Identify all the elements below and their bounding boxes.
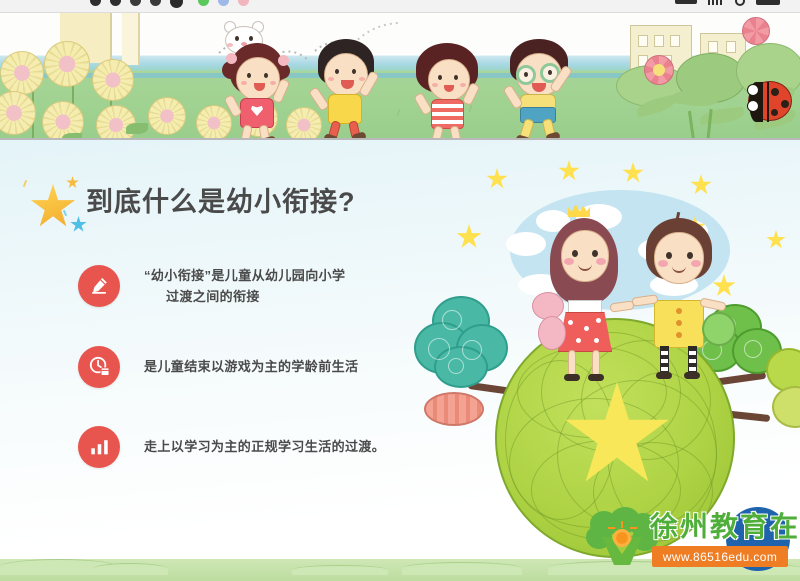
signal-icon [708, 0, 724, 5]
sky-star-icon [486, 168, 508, 190]
slide-content: 到底什么是幼小衔接? “幼小衔接”是儿童从幼儿园向小学 过渡之间的衔接 [0, 140, 800, 581]
pen-icon [78, 265, 120, 307]
kindergarten-banner [0, 13, 800, 140]
bar-chart-icon [78, 426, 120, 468]
banner-child-3 [408, 43, 494, 140]
banner-child-1 [218, 41, 304, 140]
app-dot-5-icon[interactable] [170, 0, 183, 8]
big-star-icon [30, 184, 76, 230]
site-watermark-logo[interactable]: 徐州教育在线 www.86516edu.com [586, 499, 794, 577]
screenshot-root: 到底什么是幼小衔接? “幼小衔接”是儿童从幼儿园向小学 过渡之间的衔接 [0, 0, 800, 581]
clock-calendar-icon [78, 346, 120, 388]
banner-child-2 [306, 39, 392, 140]
pink-flower [742, 17, 770, 45]
logo-brand-text: 徐州教育在线 [650, 505, 800, 545]
status-bar [0, 0, 800, 13]
list-item: 是儿童结束以游戏为主的学龄前生活 [78, 346, 408, 388]
list-item-line1: “幼小衔接”是儿童从幼儿园向小学 [144, 268, 345, 283]
logo-mark-icon [586, 507, 658, 573]
photos-icon[interactable] [238, 0, 249, 6]
illustration-girl [528, 208, 638, 338]
page-title: 到底什么是幼小衔接? [86, 180, 356, 219]
wifi-icon [735, 0, 745, 6]
list-item-line2: 过渡之间的衔接 [144, 286, 345, 307]
list-item-line1: 是儿童结束以游戏为主的学龄前生活 [144, 359, 358, 374]
list-item: 走上以学习为主的正规学习生活的过渡。 [78, 426, 408, 468]
list-item-text: 走上以学习为主的正规学习生活的过渡。 [144, 436, 385, 457]
sunflower [148, 97, 186, 135]
illustration-boy [624, 214, 734, 340]
app-dot-1-icon[interactable] [90, 0, 101, 6]
mini-star-icon [70, 216, 87, 233]
sunflower [0, 91, 36, 135]
status-bar-left-icons [90, 0, 249, 8]
sky-star-icon [558, 160, 580, 182]
contacts-icon[interactable] [218, 0, 229, 6]
star-decoration [18, 176, 90, 234]
wall-post [122, 13, 140, 65]
ladybug-icon [748, 81, 792, 121]
app-dot-4-icon[interactable] [150, 0, 161, 6]
pink-capsule [424, 392, 484, 426]
app-dot-3-icon[interactable] [130, 0, 141, 6]
sunflower [44, 41, 90, 87]
bullet-list: “幼小衔接”是儿童从幼儿园向小学 过渡之间的衔接 是儿童结束以游戏为主的学龄前生… [78, 265, 408, 506]
menu-icon[interactable] [756, 0, 780, 5]
sky-star-icon [456, 224, 482, 250]
list-item-text: “幼小衔接”是儿童从幼儿园向小学 过渡之间的衔接 [144, 265, 345, 308]
battery-icon [675, 0, 697, 4]
list-item: “幼小衔接”是儿童从幼儿园向小学 过渡之间的衔接 [78, 265, 408, 308]
banner-child-4 [500, 39, 592, 140]
status-bar-right-icons [675, 0, 780, 6]
sky-star-icon [622, 162, 644, 184]
chat-icon[interactable] [198, 0, 209, 6]
list-item-line1: 走上以学习为主的正规学习生活的过渡。 [144, 439, 385, 454]
sunflower [92, 59, 134, 101]
logo-url-text: www.86516edu.com [652, 546, 788, 567]
sky-star-icon [766, 230, 786, 250]
list-item-text: 是儿童结束以游戏为主的学龄前生活 [144, 356, 358, 377]
app-dot-2-icon[interactable] [110, 0, 121, 6]
tiny-star-icon [66, 176, 79, 189]
sky-star-icon [690, 174, 712, 196]
sunflower [0, 51, 44, 95]
sunflower [96, 105, 136, 140]
